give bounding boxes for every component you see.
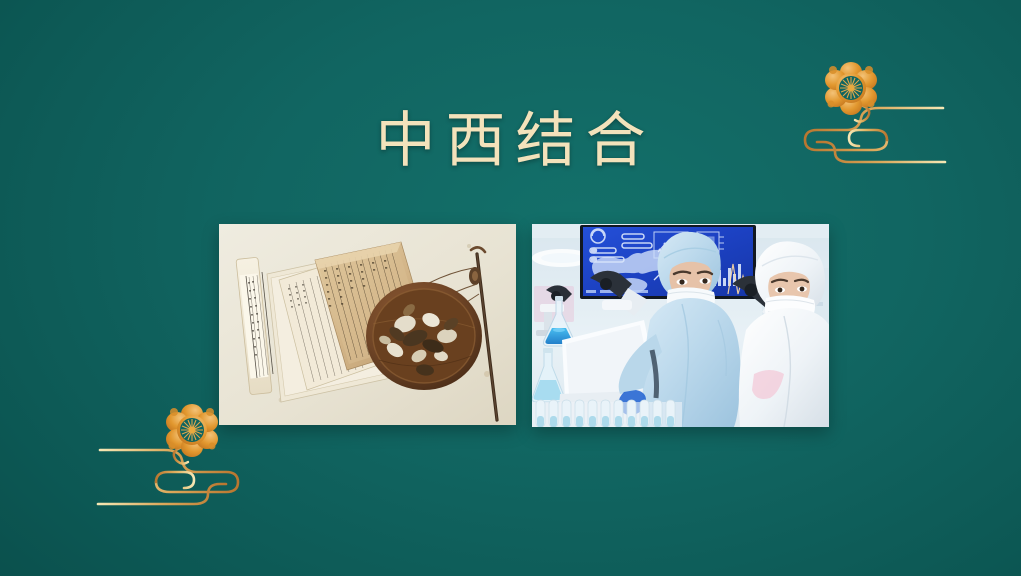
tcm-illustration xyxy=(219,224,516,425)
laboratory-illustration xyxy=(532,224,829,427)
auspicious-cloud-ornament-bottom-left xyxy=(88,404,248,519)
cloud-flower-icon xyxy=(795,62,955,177)
page-title: 中西结合 xyxy=(366,108,656,175)
slide-canvas: 中西结合 xyxy=(0,0,1021,576)
traditional-chinese-medicine-photo xyxy=(219,224,516,425)
modern-laboratory-photo xyxy=(532,224,829,427)
auspicious-cloud-ornament-top-right xyxy=(795,62,955,177)
cloud-flower-icon xyxy=(88,404,248,519)
